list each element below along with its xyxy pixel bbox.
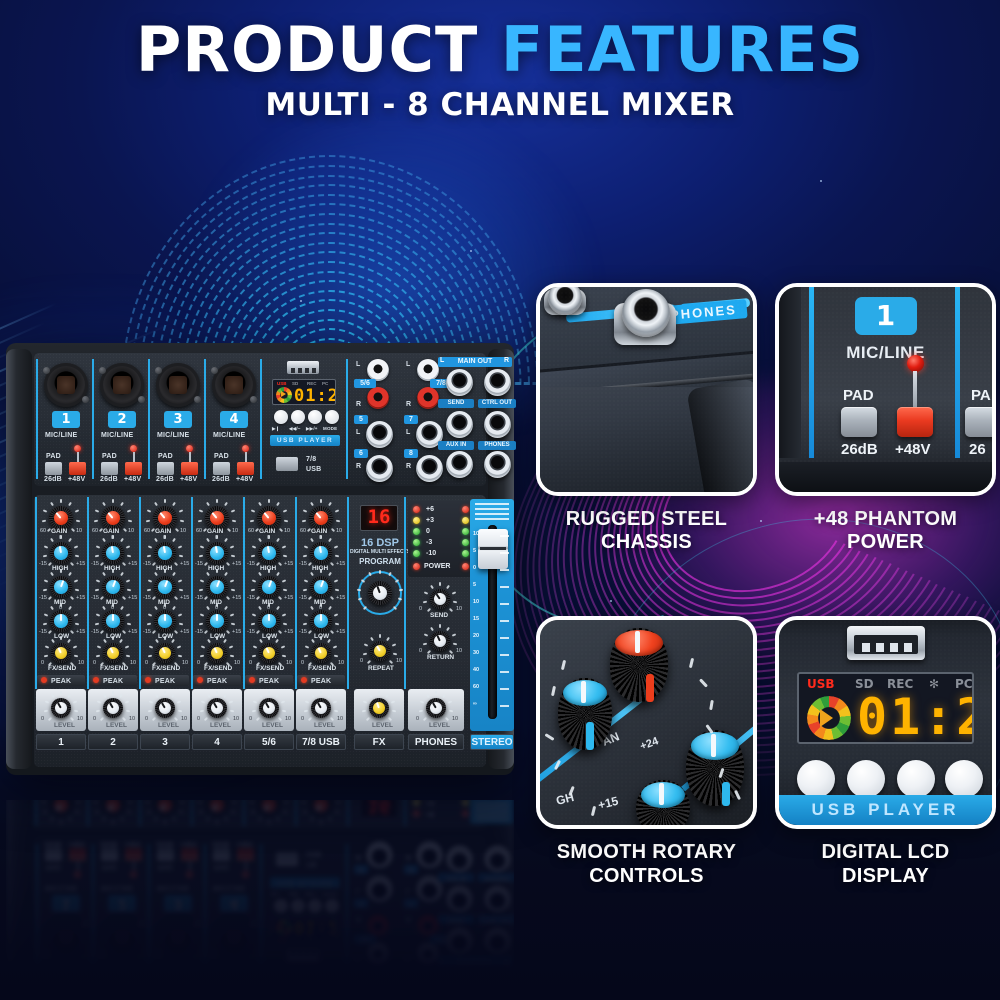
mixer-switch-label-usb: USB	[306, 850, 321, 857]
mixer-low-knob-7/8 USB[interactable]	[310, 610, 332, 632]
feature-caption-phantom-power: +48 PHANTOM POWER	[775, 508, 996, 554]
mixer-meter-label-0: +6	[426, 810, 434, 817]
mixer-trs-label-5: 5	[354, 899, 368, 908]
mixer-send-label: SEND	[438, 399, 474, 408]
page-subtitle: MULTI - 8 CHANNEL MIXER	[0, 87, 1000, 123]
mixer-gain-knob-5/6[interactable]	[257, 506, 281, 530]
mixer-gain-label-4: GAIN	[259, 528, 275, 535]
mixer-phones-jack[interactable]	[484, 451, 511, 478]
mixer-rca-jack-right-5/6[interactable]	[367, 387, 389, 409]
mixer-power-led-left	[413, 563, 420, 570]
mixer-low-max-2: +15	[180, 629, 189, 635]
mixer-usb-button-2	[308, 899, 322, 913]
mixer-gain-min-3: 60	[196, 528, 202, 534]
mixer-ctrl-out-label: CTRL OUT	[478, 915, 516, 924]
mixer-fader-tick-3	[500, 586, 509, 588]
mixer-meter-led-right-2	[462, 528, 469, 535]
mixer-ctrl-out-label: CTRL OUT	[478, 399, 516, 408]
caption-line-1: RUGGED STEEL	[536, 508, 757, 531]
mixer-rca-R-7/8: R	[406, 401, 411, 408]
mixer-fader-top-tick-2	[475, 809, 509, 811]
mixer-phantom-button-4[interactable]	[237, 462, 254, 475]
mixer-xlr-jack-3[interactable]	[156, 363, 200, 407]
rotary-knob-red[interactable]	[610, 628, 668, 702]
mixer-meter-label-1: +3	[426, 799, 434, 806]
mixer-program-knob[interactable]	[368, 581, 392, 605]
mixer-xlr-jack-2	[100, 916, 144, 960]
mixer-return-max: 10	[456, 648, 462, 654]
mixer-meter-led-left-0	[413, 810, 420, 817]
mixer-phantom-value-1: +48V	[68, 476, 85, 483]
mixer-phantom-value-3: +48V	[180, 840, 197, 847]
mixer-main-out-L: L	[440, 959, 444, 966]
phantom-led-icon	[907, 355, 924, 372]
mixer-pad-button-2[interactable]	[101, 462, 118, 475]
mixer-pad-label-4: PAD	[214, 453, 229, 460]
mixer-meter-label-3: -3	[426, 539, 432, 546]
feature-cards-row-2: AN +24 +15 GH	[536, 616, 996, 887]
mixer-peak-label-1: PEAK	[103, 678, 123, 685]
mixer-trs-jack-8[interactable]	[416, 455, 443, 482]
mixer-channel-foot-3: 3	[140, 734, 190, 750]
mixer-channel-foot-1: 1	[36, 734, 86, 750]
xlr-pin-icon	[211, 949, 218, 956]
phantom-edge-left	[779, 287, 801, 458]
mixer-pad-label-1: PAD	[46, 863, 61, 870]
phantom-pad-button[interactable]	[841, 407, 877, 437]
mixer-fxsend-knob-5/6[interactable]	[259, 643, 279, 663]
mixer-xlr-jack-1[interactable]	[44, 363, 88, 407]
phantom-48v-button[interactable]	[897, 407, 933, 437]
product-image-mixer: 1MIC/LINEPAD26dB+48V2MIC/LINEPAD26dB+48V…	[6, 343, 514, 775]
mixer-fx-divider	[347, 497, 349, 689]
mixer-aux-in-label: AUX IN	[438, 441, 474, 450]
mixer-pad-button-2	[101, 848, 118, 861]
mixer-reflection: 1MIC/LINEPAD26dB+48V2MIC/LINEPAD26dB+48V…	[6, 800, 514, 980]
mixer-gain-max-5: 10	[336, 528, 342, 534]
mixer-micline-label-1: MIC/LINE	[45, 884, 77, 891]
mixer-pad-label-3: PAD	[158, 453, 173, 460]
lcd-indicator-usb: USB	[807, 677, 835, 691]
mixer-usb-button-label-2: ▶▶/+	[306, 426, 318, 432]
mixer-fx-foot: FX	[354, 734, 404, 750]
mixer-low-min-1: -15	[91, 629, 99, 635]
mixer-xlr-jack-4[interactable]	[212, 363, 256, 407]
mixer-phantom-button-4	[237, 848, 254, 861]
mixer-main-out-jack-right[interactable]	[484, 369, 511, 396]
mixer-master-return-label: RETURN	[427, 654, 454, 661]
mixer-low-max-4: +15	[284, 629, 293, 635]
mixer-pad-button-1[interactable]	[45, 462, 62, 475]
mixer-meter-led-right-1	[462, 517, 469, 524]
mixer-pad-value-1: 26dB	[44, 840, 62, 847]
mixer-usb-port-icon	[287, 361, 319, 374]
xlr-pin-icon	[138, 396, 145, 403]
mixer-channel-badge-3: 3	[164, 895, 192, 912]
mixer-low-knob-4[interactable]	[206, 610, 228, 632]
mixer-peak-label-4: PEAK	[259, 678, 279, 685]
mixer-usb-button-label-1: ◀◀/−	[289, 426, 301, 432]
phantom-divider-right	[955, 287, 960, 458]
mixer-fxsend-max-4: 10	[286, 660, 292, 666]
mixer-low-max-3: +15	[232, 629, 241, 635]
mixer-meter-led-left-2	[413, 528, 420, 535]
mixer-meter-label-1: +3	[426, 517, 434, 524]
mixer-fxsend-min-3: 0	[197, 660, 200, 666]
mixer-level-label-2: LEVEL	[158, 722, 179, 729]
mixer-level-knob-1[interactable]	[51, 698, 71, 718]
mixer-level-knob-3[interactable]	[155, 698, 175, 718]
mixer-fader-tick-0	[500, 535, 509, 537]
mixer-gain-max-4: 10	[284, 528, 290, 534]
mixer-fxsend-label-0: FX/SEND	[48, 665, 76, 672]
mixer-gain-knob-4[interactable]	[205, 506, 229, 530]
mixer-meter-led-right-4	[462, 550, 469, 557]
phantom-led-stem	[913, 371, 917, 407]
mixer-xlr-jack-2[interactable]	[100, 363, 144, 407]
mixer-divider-after-ch4	[260, 359, 262, 479]
mixer-gain-min-5: 60	[300, 528, 306, 534]
mixer-fader-scale-∞: ∞	[473, 701, 477, 707]
mixer-high-knob-5/6[interactable]	[258, 542, 280, 564]
mixer-phones-jack	[484, 845, 511, 872]
header: PRODUCT FEATURES MULTI - 8 CHANNEL MIXER	[0, 18, 1000, 123]
mixer-pad-button-1	[45, 848, 62, 861]
mixer-peak-led-5	[301, 677, 307, 683]
mixer-high-max-1: +15	[128, 561, 137, 567]
mixer-gain-max-0: 10	[76, 528, 82, 534]
mixer-pad-value-3: 26dB	[156, 840, 174, 847]
mixer-peak-led-4	[249, 677, 255, 683]
mixer-switch-label-78: 7/8	[306, 456, 316, 463]
mixer-phones-level-label: LEVEL	[429, 722, 450, 729]
mixer-fx-level-label: LEVEL	[372, 722, 393, 729]
mixer-xlr-jack-3	[156, 916, 200, 960]
mixer-rca-jack-left-5/6	[367, 942, 389, 964]
mixer-mid-knob-2[interactable]	[102, 576, 124, 598]
mixer-rear-panel: 1MIC/LINEPAD26dB+48V2MIC/LINEPAD26dB+48V…	[34, 353, 486, 486]
caption-line-2: CHASSIS	[536, 531, 757, 554]
mixer-gain-knob-2[interactable]	[101, 506, 125, 530]
mixer-usb-source-switch[interactable]	[276, 457, 298, 471]
mixer-fader-scale-5: 5	[473, 582, 476, 588]
mixer-high-knob-2[interactable]	[102, 542, 124, 564]
mixer-gain-max-2: 10	[180, 528, 186, 534]
mixer-trs-lr-7: L	[406, 887, 410, 894]
mixer-fader-top-tick-3	[475, 804, 509, 806]
mixer-level-max-1: 10	[129, 716, 135, 722]
mixer-pad-button-4[interactable]	[213, 462, 230, 475]
xlr-pin-icon	[211, 367, 218, 374]
xlr-pin-icon	[99, 949, 106, 956]
mixer-trs-lr-8: R	[406, 463, 411, 470]
mixer-channel-badge-4: 4	[220, 411, 248, 428]
mixer-aux-in-jack[interactable]	[446, 451, 473, 478]
mixer-trs-label-6: 6	[354, 865, 368, 874]
mixer-aux-in-label: AUX IN	[438, 873, 474, 882]
mixer-micline-label-2: MIC/LINE	[101, 432, 133, 439]
page-title-part2: FEATURES	[501, 13, 864, 86]
mixer-meter-led-right-0	[462, 810, 469, 817]
mixer-send-jack[interactable]	[446, 411, 473, 438]
mixer-fxsend-label-2: FX/SEND	[152, 665, 180, 672]
mixer-high-knob-1[interactable]	[50, 542, 72, 564]
mixer-rca-L-7/8: L	[406, 955, 410, 962]
xlr-pin-icon	[250, 920, 257, 927]
feature-caption-lcd-display: DIGITAL LCD DISPLAY	[775, 841, 996, 887]
caption-line-2: POWER	[775, 531, 996, 554]
mixer-high-max-3: +15	[232, 561, 241, 567]
mixer-main-out-jack-left[interactable]	[446, 369, 473, 396]
mixer-usb-indicator-pc: PC	[322, 937, 328, 942]
mixer-master-return-knob[interactable]	[430, 631, 450, 651]
mixer-meter-led-right-1	[462, 799, 469, 806]
mixer-send-max: 10	[456, 606, 462, 612]
feature-card-rotary-controls[interactable]: AN +24 +15 GH	[536, 616, 757, 887]
mixer-usb-button-3[interactable]	[325, 410, 339, 424]
mixer-fader-scale-10: 10	[473, 531, 479, 537]
mixer-control-surface: 60GAIN100-15+15HIGH-15+15MID0-15+15LOW01…	[34, 495, 486, 767]
mixer-power-label: POWER	[424, 563, 450, 570]
mixer-level-min-3: 0	[197, 716, 200, 722]
feature-caption-chassis: RUGGED STEEL CHASSIS	[536, 508, 757, 554]
mixer-usb-play-icon	[281, 391, 286, 397]
mixer-high-knob-4[interactable]	[206, 542, 228, 564]
mixer-trs-jack-8	[416, 841, 443, 868]
mixer-pad-value-4: 26dB	[212, 840, 230, 847]
mixer-side-rail-left	[6, 349, 32, 769]
mixer-channel-foot-7/8 USB: 7/8 USB	[296, 734, 346, 750]
mixer-mid-max-1: +15	[128, 595, 137, 601]
phantom-pad-button-right[interactable]	[965, 407, 996, 437]
mixer-phantom-led-3	[186, 871, 193, 878]
mixer-mid-max-5: +15	[336, 595, 345, 601]
mixer-phantom-led-1	[74, 445, 81, 452]
mixer-level-min-5: 0	[301, 716, 304, 722]
mixer-mid-knob-1[interactable]	[50, 576, 72, 598]
feature-card-rugged-steel-chassis[interactable]: PHONES RUGGED STEEL CHASSIS	[536, 283, 757, 554]
mixer-trs-jack-6[interactable]	[366, 455, 393, 482]
mixer-level-knob-2[interactable]	[103, 698, 123, 718]
mixer-high-knob-3[interactable]	[154, 542, 176, 564]
xlr-pin-icon	[194, 396, 201, 403]
mixer-fader-scale-30: 30	[473, 650, 479, 656]
mixer-mid-knob-4[interactable]	[206, 576, 228, 598]
mixer-phantom-button-3[interactable]	[181, 462, 198, 475]
lcd-footer-label: USB PLAYER	[779, 795, 992, 825]
mixer-ctrl-out-jack[interactable]	[484, 411, 511, 438]
mixer-mid-min-2: -15	[143, 595, 151, 601]
mixer-repeat-knob[interactable]	[370, 641, 390, 661]
mixer-gain-min-4: 60	[248, 528, 254, 534]
mixer-low-knob-2[interactable]	[102, 610, 124, 632]
lcd-play-icon	[820, 709, 833, 727]
mixer-channel-divider-1	[36, 359, 38, 479]
mixer-meter-led-left-1	[413, 799, 420, 806]
mixer-rca-jack-right-7/8[interactable]	[417, 387, 439, 409]
mixer-level-min-1: 0	[93, 716, 96, 722]
mixer-fxsend-knob-1[interactable]	[51, 643, 71, 663]
mixer-channel-divider-2	[92, 359, 94, 479]
mixer-usb-play-icon	[281, 926, 286, 932]
mixer-fader-scale-40: 40	[473, 667, 479, 673]
mixer-fxsend-knob-3[interactable]	[155, 643, 175, 663]
mixer-gain-label-0: GAIN	[51, 528, 67, 535]
feature-card-phantom-power[interactable]: 1 MIC/LINE PAD PA 26dB +48V 26	[775, 283, 996, 554]
mixer-low-knob-5/6[interactable]	[258, 610, 280, 632]
mixer-peak-label-0: PEAK	[51, 678, 71, 685]
mixer-strip-divider-4	[243, 497, 245, 689]
mixer-fader-tick-7	[500, 654, 509, 656]
mixer-peak-led-2	[145, 677, 151, 683]
rotary-knob-blue-1[interactable]	[558, 678, 612, 750]
mixer-high-min-4: -15	[247, 561, 255, 567]
mixer-gain-min-0: 60	[40, 528, 46, 534]
mixer-meter-led-left-0	[413, 506, 420, 513]
phantom-48v-value: +48V	[895, 441, 930, 458]
mixer-meter-label-2: 0	[426, 528, 430, 535]
mixer-master-send-knob[interactable]	[430, 589, 450, 609]
mixer-pad-label-2: PAD	[102, 863, 117, 870]
mixer-level-max-4: 10	[285, 716, 291, 722]
mixer-phantom-button-3	[181, 848, 198, 861]
caption-line-1: SMOOTH ROTARY	[536, 841, 757, 864]
mixer-high-knob-7/8 USB[interactable]	[310, 542, 332, 564]
mixer-fxsend-label-4: FX/SEND	[256, 665, 284, 672]
mixer-main-out-L: L	[440, 357, 444, 364]
mixer-rca-jack-left-7/8	[417, 942, 439, 964]
mixer-fader-tick-2	[500, 569, 509, 571]
mixer-return-min: 0	[419, 648, 422, 654]
mixer-low-min-0: -15	[39, 629, 47, 635]
mixer-low-min-3: -15	[195, 629, 203, 635]
mixer-gain-knob-3[interactable]	[153, 506, 177, 530]
mixer-main-out-R: R	[504, 357, 509, 364]
mixer-fader-tick-10	[500, 705, 509, 707]
mixer-rca-L-7/8: L	[406, 361, 410, 368]
feature-image-lcd-display: USB SD REC ✻ PC 01:28	[775, 616, 996, 829]
mixer-mid-min-1: -15	[91, 595, 99, 601]
mixer-mid-max-0: +15	[76, 595, 85, 601]
phantom-pad-label-right: PA	[971, 387, 991, 404]
mixer-fxsend-knob-4[interactable]	[207, 643, 227, 663]
feature-card-digital-lcd-display[interactable]: USB SD REC ✻ PC 01:28	[775, 616, 996, 887]
mixer-fader-tick-4	[500, 603, 509, 605]
mixer-trs-lr-6: R	[356, 853, 361, 860]
mixer-usb-button-1[interactable]	[291, 410, 305, 424]
mixer-phantom-button-2[interactable]	[125, 462, 142, 475]
mixer-channel-badge-2: 2	[108, 895, 136, 912]
lcd-screen: USB SD REC ✻ PC 01:28	[797, 672, 974, 744]
mixer-pad-label-4: PAD	[214, 863, 229, 870]
mixer-low-knob-1[interactable]	[50, 610, 72, 632]
mixer-fader-top-tick-0	[475, 503, 509, 505]
mixer-trs-label-8: 8	[404, 865, 418, 874]
mixer-mid-knob-5/6[interactable]	[258, 576, 280, 598]
mixer-channel-foot-5/6: 5/6	[244, 734, 294, 750]
mixer-meter-led-left-4	[413, 550, 420, 557]
mixer-rca-jack-left-5/6[interactable]	[367, 359, 389, 381]
mixer-fxsend-min-0: 0	[41, 660, 44, 666]
mixer-mid-knob-7/8 USB[interactable]	[310, 576, 332, 598]
mixer-gain-max-1: 10	[128, 528, 134, 534]
mixer-switch-label-usb: USB	[306, 466, 321, 473]
mixer-fader-scale-60: 60	[473, 684, 479, 690]
mixer-level-label-5: LEVEL	[314, 722, 335, 729]
mixer-micline-label-3: MIC/LINE	[157, 884, 189, 891]
mixer-channel-badge-3: 3	[164, 411, 192, 428]
mixer-level-knob-5/6[interactable]	[259, 698, 279, 718]
mixer-rca-L-5/6: L	[356, 361, 360, 368]
mixer-phantom-button-1[interactable]	[69, 462, 86, 475]
mixer-channel-badge-4: 4	[220, 895, 248, 912]
mixer-phones-level-knob[interactable]	[426, 698, 446, 718]
phantom-divider-left	[809, 287, 814, 458]
mixer-rca-jack-left-7/8[interactable]	[417, 359, 439, 381]
mixer-usb-button-label-0: ▶❙	[272, 426, 280, 432]
lcd-photo: USB SD REC ✻ PC 01:28	[779, 620, 992, 825]
mixer-usb-screen: USBSDRECPC01:28	[272, 918, 336, 944]
mixer-fader-scale-15: 15	[473, 616, 479, 622]
mixer-fader-scale-10: 10	[473, 599, 479, 605]
mixer-level-knob-4[interactable]	[207, 698, 227, 718]
mixer-phones-min: 0	[416, 716, 419, 722]
mixer-high-min-5: -15	[299, 561, 307, 567]
mixer-phantom-value-1: +48V	[68, 840, 85, 847]
mixer-strip-divider-1	[87, 497, 89, 689]
mixer-trs-jack-5[interactable]	[366, 421, 393, 448]
mixer-fader-tick-9	[500, 688, 509, 690]
mixer-mid-min-0: -15	[39, 595, 47, 601]
mixer-high-max-0: +15	[76, 561, 85, 567]
mixer-fader-tick-1	[500, 552, 509, 554]
mixer-usb-source-switch	[276, 852, 298, 866]
mixer-usb-indicator-usb: USB	[277, 381, 287, 386]
mixer-xlr-jack-1	[44, 916, 88, 960]
mixer-micline-label-4: MIC/LINE	[213, 884, 245, 891]
mixer-usb-button-label-2: ▶▶/+	[306, 891, 318, 897]
mixer-phantom-led-4	[242, 445, 249, 452]
mixer-fader-top-tick-1	[475, 508, 509, 510]
xlr-pin-icon	[250, 396, 257, 403]
mixer-fxsend-knob-7/8 USB[interactable]	[311, 643, 331, 663]
mixer-main-out-label: MAIN OUT	[438, 956, 512, 966]
rotary-knob-blue-2[interactable]	[636, 780, 690, 829]
mixer-stereo-foot: STEREO	[470, 734, 514, 750]
mixer-low-knob-3[interactable]	[154, 610, 176, 632]
mixer-channel-divider-3	[148, 844, 150, 964]
mixer-mid-knob-3[interactable]	[154, 576, 176, 598]
xlr-pin-icon	[194, 920, 201, 927]
mixer-fx-level-knob[interactable]	[369, 698, 389, 718]
mixer-pad-button-4	[213, 848, 230, 861]
mixer-fader-scale-0: 0	[473, 565, 476, 571]
infographic-stage: PRODUCT FEATURES MULTI - 8 CHANNEL MIXER…	[0, 0, 1000, 1000]
mixer-phantom-led-2	[130, 445, 137, 452]
mixer-gain-knob-7/8 USB[interactable]	[309, 506, 333, 530]
mixer-mid-min-4: -15	[247, 595, 255, 601]
page-title: PRODUCT FEATURES	[0, 18, 1000, 81]
mixer-gain-knob-1[interactable]	[49, 506, 73, 530]
mixer-usb-button-2[interactable]	[308, 410, 322, 424]
mixer-fxsend-max-2: 10	[182, 660, 188, 666]
mixer-mid-max-3: +15	[232, 595, 241, 601]
mixer-usb-button-0[interactable]	[274, 410, 288, 424]
mixer-fxsend-knob-2[interactable]	[103, 643, 123, 663]
mixer-level-knob-7/8 USB[interactable]	[311, 698, 331, 718]
mixer-pad-button-3[interactable]	[157, 462, 174, 475]
xlr-pin-icon	[43, 367, 50, 374]
